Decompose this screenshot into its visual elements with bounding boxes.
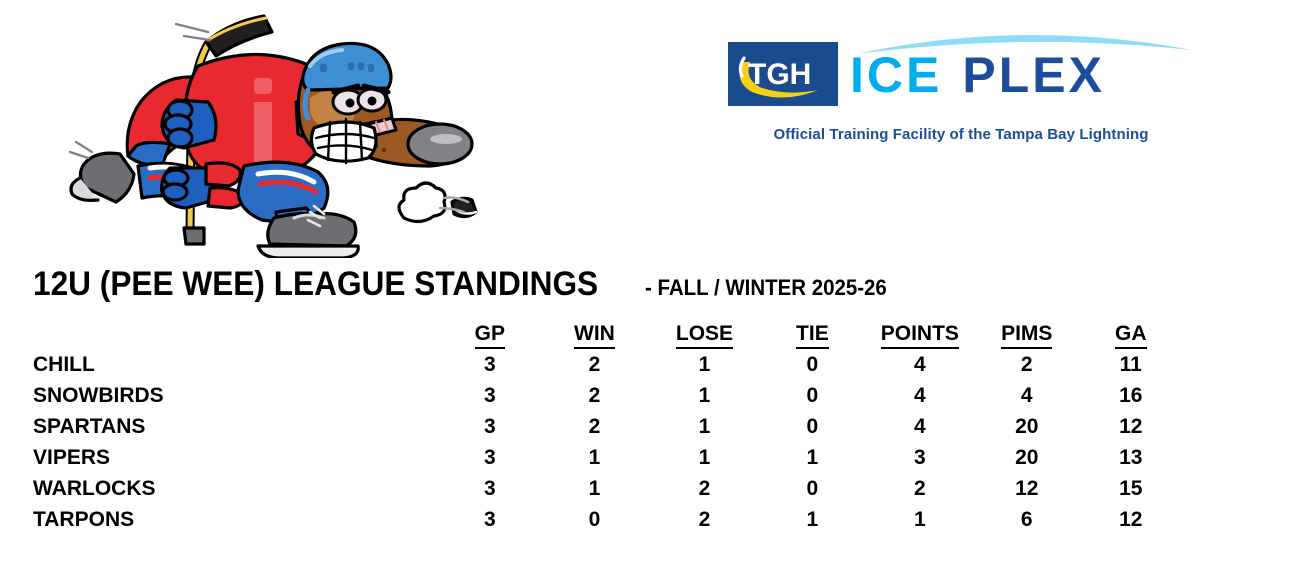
team-name: SNOWBIRDS (33, 380, 440, 411)
cell-win: 2 (540, 380, 649, 411)
cell-tie: 0 (760, 473, 864, 504)
standings-page: TGH ICE PLEX Official Training Facility … (0, 0, 1308, 562)
cell-gp: 3 (440, 442, 541, 473)
cell-win: 2 (540, 349, 649, 380)
cell-points: 4 (865, 411, 975, 442)
header-win: WIN (540, 318, 649, 349)
table-row: CHILL 3 2 1 0 4 2 11 (33, 349, 1183, 380)
cell-lose: 2 (649, 504, 760, 535)
page-title-season: - FALL / WINTER 2025-26 (645, 276, 887, 300)
standings-table: GP WIN LOSE TIE POINTS PIMS GA CHILL 3 2… (33, 318, 1183, 535)
header-pims: PIMS (975, 318, 1078, 349)
cell-points: 4 (865, 380, 975, 411)
cell-pims: 4 (975, 380, 1078, 411)
header-tie: TIE (760, 318, 864, 349)
team-name: VIPERS (33, 442, 440, 473)
cell-points: 3 (865, 442, 975, 473)
hockey-mascot-illustration (58, 6, 488, 258)
cell-ga: 11 (1079, 349, 1184, 380)
cell-lose: 1 (649, 442, 760, 473)
cell-ga: 15 (1079, 473, 1184, 504)
cell-points: 4 (865, 349, 975, 380)
cell-pims: 20 (975, 411, 1078, 442)
tgh-logo-box: TGH (728, 42, 838, 106)
cell-ga: 16 (1079, 380, 1184, 411)
cell-gp: 3 (440, 504, 541, 535)
cell-pims: 6 (975, 504, 1078, 535)
header-lose: LOSE (649, 318, 760, 349)
team-name: TARPONS (33, 504, 440, 535)
cell-points: 2 (865, 473, 975, 504)
cell-win: 1 (540, 442, 649, 473)
cell-pims: 20 (975, 442, 1078, 473)
cell-lose: 2 (649, 473, 760, 504)
cell-gp: 3 (440, 349, 541, 380)
page-title: 12U (PEE WEE) LEAGUE STANDINGS - FALL / … (33, 266, 905, 302)
cell-lose: 1 (649, 349, 760, 380)
table-row: WARLOCKS 3 1 2 0 2 12 15 (33, 473, 1183, 504)
cell-ga: 12 (1079, 504, 1184, 535)
logo-tagline: Official Training Facility of the Tampa … (726, 126, 1196, 143)
table-row: SPARTANS 3 2 1 0 4 20 12 (33, 411, 1183, 442)
cell-win: 1 (540, 473, 649, 504)
cell-lose: 1 (649, 380, 760, 411)
cell-pims: 12 (975, 473, 1078, 504)
header-team (33, 318, 440, 349)
cell-gp: 3 (440, 380, 541, 411)
cell-tie: 0 (760, 380, 864, 411)
team-name: WARLOCKS (33, 473, 440, 504)
header-points: POINTS (865, 318, 975, 349)
cell-pims: 2 (975, 349, 1078, 380)
header-ga: GA (1079, 318, 1184, 349)
cell-ga: 13 (1079, 442, 1184, 473)
cell-ga: 12 (1079, 411, 1184, 442)
ice-plex-wordmark: ICE PLEX (850, 44, 1105, 106)
cell-gp: 3 (440, 411, 541, 442)
team-name: SPARTANS (33, 411, 440, 442)
header-gp: GP (440, 318, 541, 349)
cell-gp: 3 (440, 473, 541, 504)
cell-win: 0 (540, 504, 649, 535)
cell-tie: 1 (760, 442, 864, 473)
page-title-main: 12U (PEE WEE) LEAGUE STANDINGS (33, 266, 598, 302)
cell-win: 2 (540, 411, 649, 442)
ice-word: ICE (850, 46, 942, 104)
tgh-ice-plex-logo: TGH ICE PLEX Official Training Facility … (726, 26, 1196, 162)
plex-word: PLEX (962, 46, 1105, 104)
team-name: CHILL (33, 349, 440, 380)
table-header-row: GP WIN LOSE TIE POINTS PIMS GA (33, 318, 1183, 349)
cell-points: 1 (865, 504, 975, 535)
cell-lose: 1 (649, 411, 760, 442)
table-row: VIPERS 3 1 1 1 3 20 13 (33, 442, 1183, 473)
cell-tie: 0 (760, 349, 864, 380)
cell-tie: 0 (760, 411, 864, 442)
cell-tie: 1 (760, 504, 864, 535)
table-row: SNOWBIRDS 3 2 1 0 4 4 16 (33, 380, 1183, 411)
table-row: TARPONS 3 0 2 1 1 6 12 (33, 504, 1183, 535)
svg-text:TGH: TGH (748, 58, 811, 91)
